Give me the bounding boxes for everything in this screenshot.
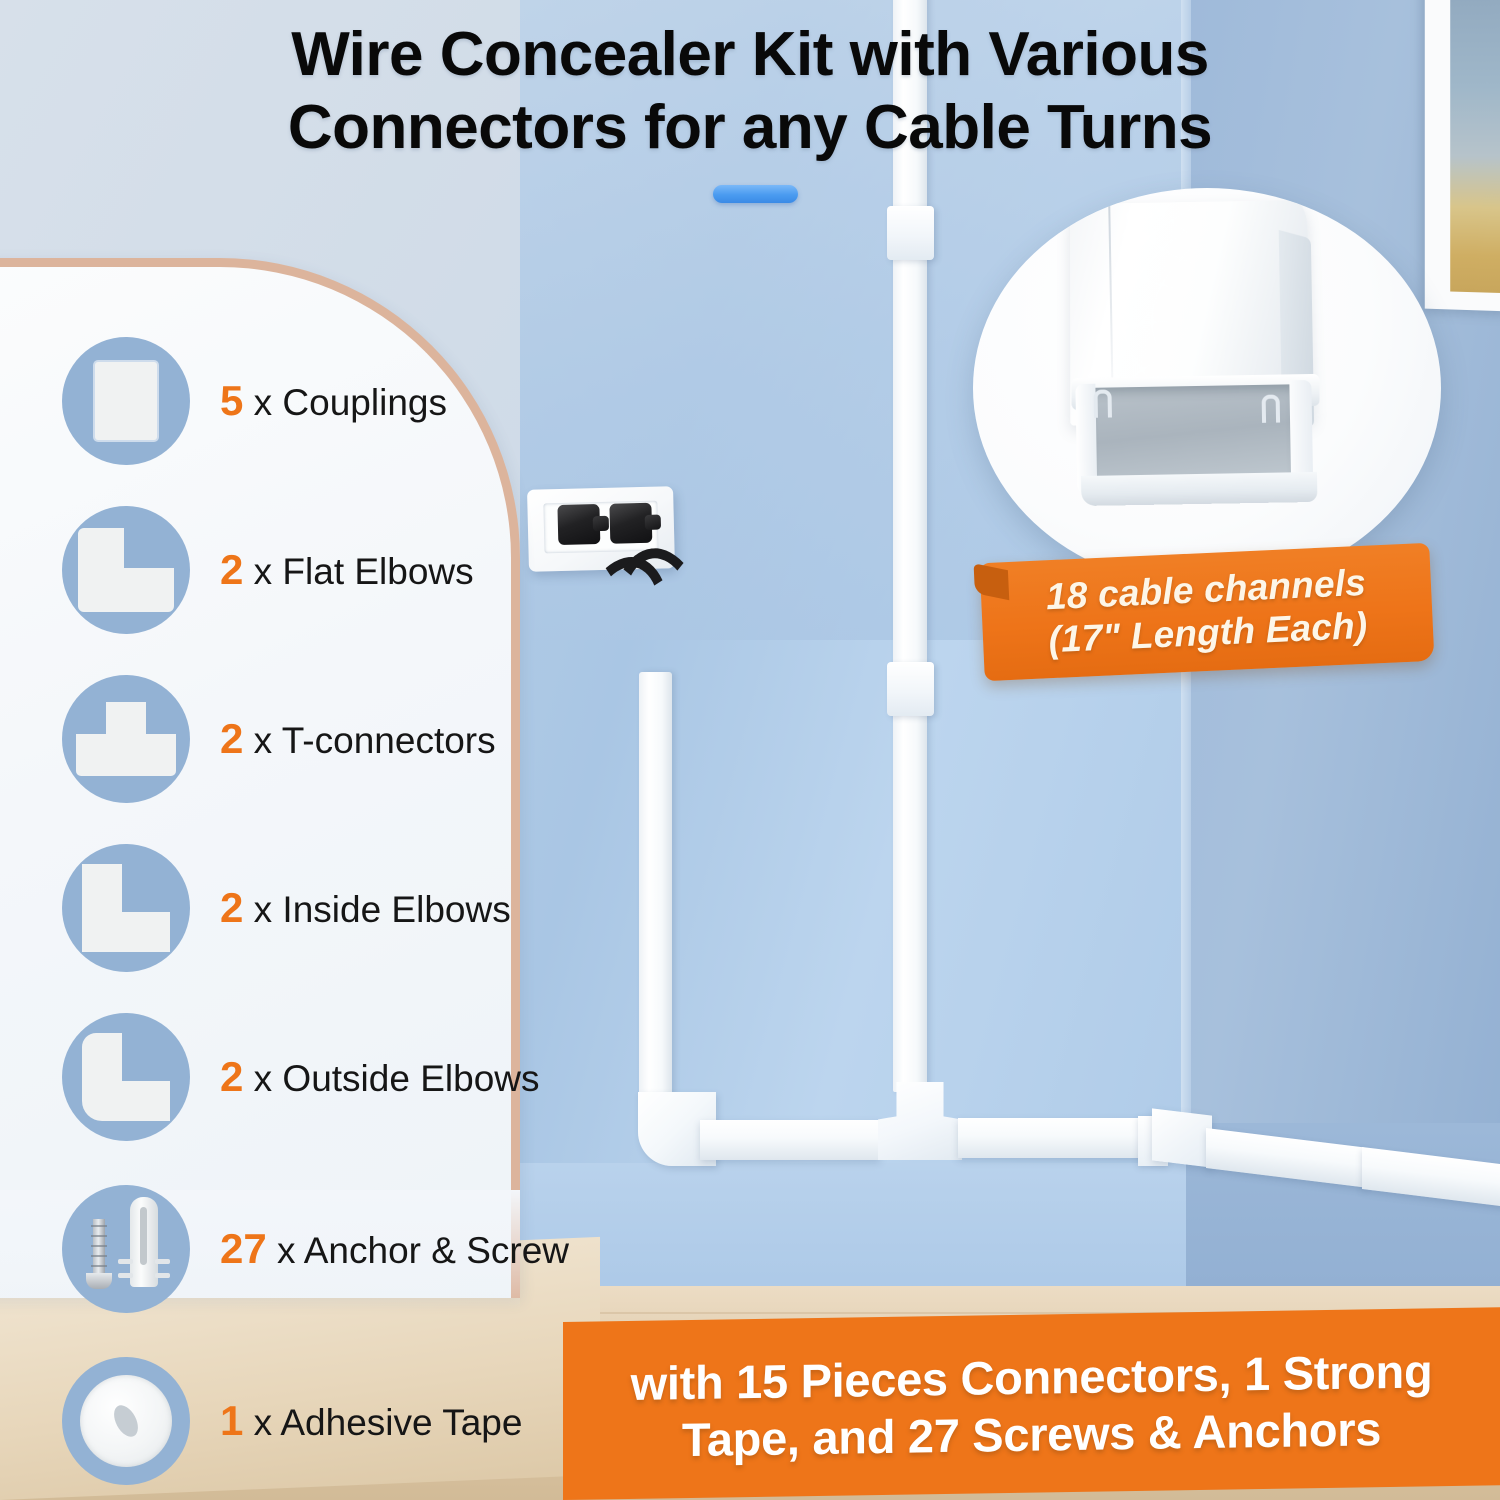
bottom-banner-text: with 15 Pieces Connectors, 1 Strong Tape… [563, 1313, 1500, 1498]
title-line-2: Connectors for any Cable Turns [120, 91, 1380, 164]
flat-elbow-glyph [78, 528, 174, 612]
screw-glyph [86, 1207, 112, 1293]
adhesive-tape-icon [62, 1357, 190, 1485]
list-item-text: x Anchor & Screw [277, 1230, 569, 1271]
list-item-label: 27 x Anchor & Screw [220, 1225, 569, 1273]
list-item-text: x Flat Elbows [254, 551, 474, 592]
list-item-text: x Couplings [254, 382, 447, 423]
list-item-qty: 27 [220, 1225, 267, 1272]
list-item-qty: 5 [220, 377, 243, 424]
page-title: Wire Concealer Kit with Various Connecto… [120, 18, 1380, 164]
list-item-qty: 2 [220, 715, 243, 762]
framed-picture [1425, 0, 1500, 311]
title-accent-pill [713, 185, 798, 203]
list-item: 2 x Inside Elbows [62, 823, 582, 992]
cable-raceway-product [1062, 198, 1330, 527]
list-item: 27 x Anchor & Screw [62, 1161, 582, 1336]
list-item: 1 x Adhesive Tape [62, 1336, 582, 1500]
list-item: 2 x T-connectors [62, 654, 582, 823]
list-item-qty: 1 [220, 1397, 243, 1444]
list-item-qty: 2 [220, 546, 243, 593]
list-item-label: 2 x T-connectors [220, 715, 496, 763]
raceway-horizontal-left [700, 1120, 880, 1160]
list-item-text: x T-connectors [254, 720, 496, 761]
raceway-vertical-outlet [639, 672, 672, 1102]
list-item-label: 2 x Inside Elbows [220, 884, 511, 932]
coupling-glyph [95, 362, 157, 440]
coupling-connector [887, 662, 934, 716]
list-item-label: 1 x Adhesive Tape [220, 1397, 522, 1445]
list-item-label: 2 x Flat Elbows [220, 546, 474, 594]
list-item: 5 x Couplings [62, 316, 582, 485]
coupling-connector [887, 206, 934, 260]
t-connector-glyph [76, 702, 176, 776]
list-item-text: x Inside Elbows [254, 889, 511, 930]
parts-list: 5 x Couplings 2 x Flat Elbows 2 x T-conn… [62, 316, 582, 1500]
raceway-clip [1262, 395, 1280, 423]
anchor-glyph [124, 1197, 164, 1299]
raceway-horizontal-right [958, 1118, 1158, 1158]
title-line-1: Wire Concealer Kit with Various [120, 18, 1380, 91]
list-item: 2 x Flat Elbows [62, 485, 582, 654]
anchor-screw-icon [62, 1185, 190, 1313]
raceway-base [1081, 472, 1317, 506]
list-item: 2 x Outside Elbows [62, 992, 582, 1161]
list-item-text: x Adhesive Tape [254, 1402, 523, 1443]
outside-elbow-icon [62, 1013, 190, 1141]
inside-elbow-glyph [82, 864, 170, 952]
bottom-banner-line-2: Tape, and 27 Screws & Anchors [682, 1400, 1381, 1468]
list-item-text: x Outside Elbows [254, 1058, 540, 1099]
inside-elbow-connector [1152, 1108, 1212, 1167]
flat-elbow-icon [62, 506, 190, 634]
tape-roll-glyph [80, 1375, 172, 1467]
t-connector-icon [62, 675, 190, 803]
power-plug [609, 503, 652, 544]
list-item-label: 2 x Outside Elbows [220, 1053, 540, 1101]
outside-elbow-glyph [82, 1033, 170, 1121]
callout-text: 18 cable channels (17" Length Each) [980, 543, 1435, 681]
cable-channels-callout: 18 cable channels (17" Length Each) [980, 543, 1435, 681]
product-closeup-photo [973, 188, 1441, 588]
raceway-clip [1093, 389, 1111, 417]
list-item-qty: 2 [220, 884, 243, 931]
coupling-icon [62, 337, 190, 465]
list-item-qty: 2 [220, 1053, 243, 1100]
picture-artwork [1450, 0, 1500, 293]
list-item-label: 5 x Couplings [220, 377, 447, 425]
inside-elbow-icon [62, 844, 190, 972]
